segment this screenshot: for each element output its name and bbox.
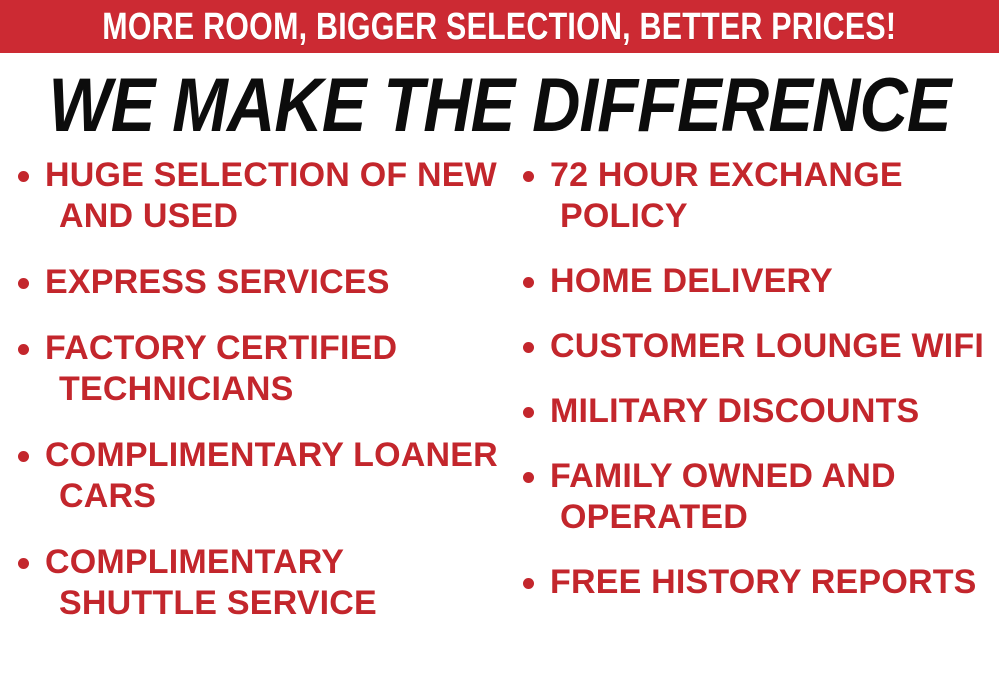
list-item: FAMILY OWNED AND OPERATED: [523, 456, 999, 538]
bullet-dot-icon: [523, 171, 534, 182]
list-item: COMPLIMENTARY LOANER CARS: [18, 435, 505, 517]
features-column-left: HUGE SELECTION OF NEW AND USED EXPRESS S…: [0, 155, 505, 692]
top-promo-banner: MORE ROOM, BIGGER SELECTION, BETTER PRIC…: [0, 0, 999, 53]
bullet-dot-icon: [18, 558, 29, 569]
list-item: 72 HOUR EXCHANGE POLICY: [523, 155, 999, 237]
list-item-label: HUGE SELECTION OF NEW AND USED: [45, 155, 505, 237]
list-item: COMPLIMENTARY SHUTTLE SERVICE: [18, 542, 505, 624]
bullet-dot-icon: [18, 451, 29, 462]
list-item: MILITARY DISCOUNTS: [523, 391, 999, 432]
bullet-dot-icon: [18, 278, 29, 289]
list-item: FACTORY CERTIFIED TECHNICIANS: [18, 328, 505, 410]
list-item: EXPRESS SERVICES: [18, 262, 505, 303]
advertisement-banner: MORE ROOM, BIGGER SELECTION, BETTER PRIC…: [0, 0, 999, 692]
list-item-label: CUSTOMER LOUNGE WIFI: [550, 326, 984, 367]
promo-banner-text: MORE ROOM, BIGGER SELECTION, BETTER PRIC…: [102, 8, 896, 46]
bullet-dot-icon: [18, 344, 29, 355]
list-item: HOME DELIVERY: [523, 261, 999, 302]
features-columns: HUGE SELECTION OF NEW AND USED EXPRESS S…: [0, 155, 999, 692]
bullet-dot-icon: [523, 407, 534, 418]
features-column-right: 72 HOUR EXCHANGE POLICY HOME DELIVERY CU…: [505, 155, 999, 692]
bullet-dot-icon: [523, 472, 534, 483]
list-item-label: FAMILY OWNED AND OPERATED: [550, 456, 999, 538]
list-item-label: FACTORY CERTIFIED TECHNICIANS: [45, 328, 505, 410]
bullet-dot-icon: [523, 277, 534, 288]
headline-text: WE MAKE THE DIFFERENCE: [48, 68, 950, 144]
list-item-label: 72 HOUR EXCHANGE POLICY: [550, 155, 999, 237]
list-item-label: EXPRESS SERVICES: [45, 262, 390, 303]
list-item-label: FREE HISTORY REPORTS: [550, 562, 977, 603]
headline-container: WE MAKE THE DIFFERENCE: [0, 60, 999, 152]
list-item-label: HOME DELIVERY: [550, 261, 833, 302]
list-item: FREE HISTORY REPORTS: [523, 562, 999, 603]
bullet-dot-icon: [18, 171, 29, 182]
list-item-label: COMPLIMENTARY LOANER CARS: [45, 435, 505, 517]
bullet-dot-icon: [523, 578, 534, 589]
list-item: HUGE SELECTION OF NEW AND USED: [18, 155, 505, 237]
bullet-dot-icon: [523, 342, 534, 353]
list-item-label: COMPLIMENTARY SHUTTLE SERVICE: [45, 542, 505, 624]
list-item: CUSTOMER LOUNGE WIFI: [523, 326, 999, 367]
list-item-label: MILITARY DISCOUNTS: [550, 391, 919, 432]
